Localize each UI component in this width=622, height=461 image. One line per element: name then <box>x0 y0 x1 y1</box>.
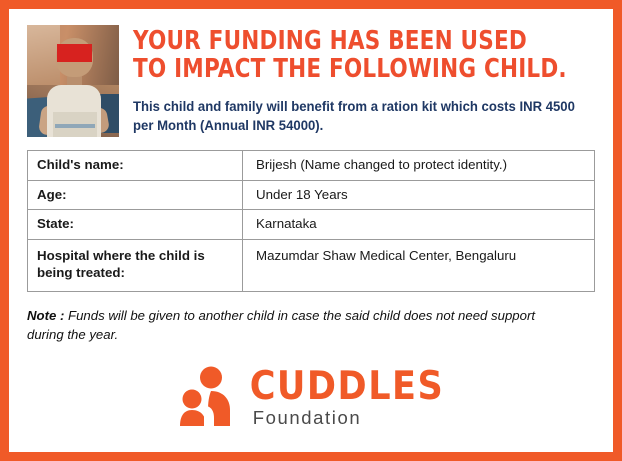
table-row: Child's name: Brijesh (Name changed to p… <box>28 151 595 181</box>
logo-wordmark: CUDDLES Foundation <box>250 367 445 428</box>
page-subtitle: This child and family will benefit from … <box>133 97 586 135</box>
photo-background-wall-light <box>27 25 60 92</box>
row-label-age: Age: <box>28 180 243 210</box>
row-value-child-name-text: Brijesh (Name changed to protect identit… <box>252 156 507 174</box>
row-value-child-name: Brijesh (Name changed to protect identit… <box>243 151 595 181</box>
cuddles-logo-svg <box>178 366 236 428</box>
card-header: YOUR FUNDING HAS BEEN USED TO IMPACT THE… <box>27 19 595 137</box>
row-value-state: Karnataka <box>243 210 595 240</box>
row-value-state-text: Karnataka <box>252 215 317 233</box>
funding-impact-card: YOUR FUNDING HAS BEEN USED TO IMPACT THE… <box>0 0 622 461</box>
table-row: Hospital where the child is being treate… <box>28 239 595 291</box>
row-label-child-name: Child's name: <box>28 151 243 181</box>
row-value-age: Under 18 Years <box>243 180 595 210</box>
row-label-hospital: Hospital where the child is being treate… <box>28 239 243 291</box>
row-label-state: State: <box>28 210 243 240</box>
logo-word-cuddles: CUDDLES <box>250 367 445 406</box>
table-row: Age: Under 18 Years <box>28 180 595 210</box>
redaction-bar-icon <box>57 44 92 62</box>
cuddles-logo-icon <box>178 366 236 428</box>
row-value-hospital-text: Mazumdar Shaw Medical Center, Bengaluru <box>252 247 516 265</box>
child-details-table: Child's name: Brijesh (Name changed to p… <box>27 150 595 292</box>
logo-word-foundation: Foundation <box>253 409 445 428</box>
headings-block: YOUR FUNDING HAS BEEN USED TO IMPACT THE… <box>119 25 595 135</box>
row-value-age-text: Under 18 Years <box>252 186 348 204</box>
child-photo <box>27 25 119 137</box>
note-text: Note : Funds will be given to another ch… <box>27 306 572 344</box>
row-value-hospital: Mazumdar Shaw Medical Center, Bengaluru <box>243 239 595 291</box>
brand-logo: CUDDLES Foundation <box>27 366 595 428</box>
page-title: YOUR FUNDING HAS BEEN USED TO IMPACT THE… <box>133 27 567 83</box>
card-inner: YOUR FUNDING HAS BEEN USED TO IMPACT THE… <box>9 9 613 452</box>
note-body: Funds will be given to another child in … <box>27 308 535 342</box>
photo-clothing-stripe <box>55 124 95 128</box>
table-row: State: Karnataka <box>28 210 595 240</box>
note-prefix: Note : <box>27 308 64 323</box>
